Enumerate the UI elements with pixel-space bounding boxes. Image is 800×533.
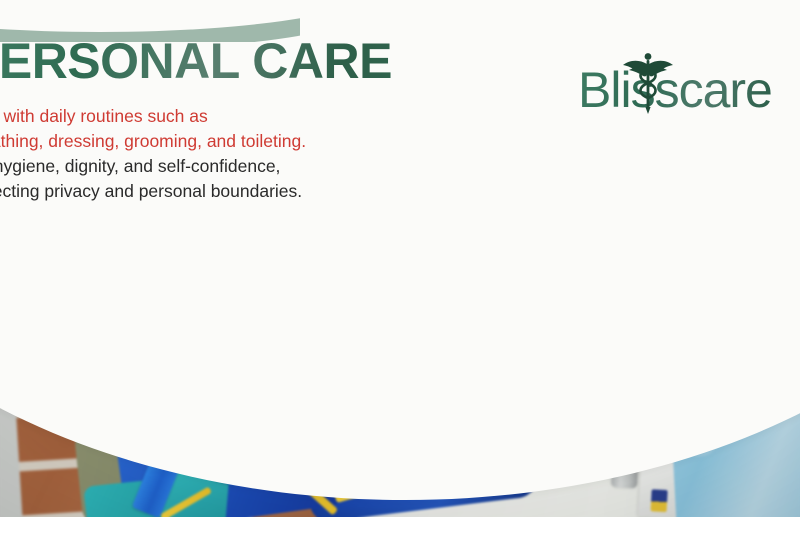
caduceus-icon	[622, 52, 674, 114]
copy-line-2: feeding, bathing, dressing, grooming, an…	[0, 129, 534, 154]
copy-line-3: Promotes hygiene, dignity, and self-conf…	[0, 154, 534, 179]
copy-line-1: Assistance with daily routines such as	[0, 104, 534, 129]
page-title: PERSONAL CARE	[0, 36, 486, 86]
bottom-white-strip	[0, 517, 800, 533]
slide-canvas: PERSONAL CARE Assistance with daily rout…	[0, 0, 800, 533]
copy-line-4: while respecting privacy and personal bo…	[0, 179, 534, 204]
brand-logo[interactable]: Blisscare	[578, 58, 800, 122]
body-copy: Assistance with daily routines such as f…	[0, 104, 534, 204]
brand-name: Blisscare	[578, 62, 772, 118]
